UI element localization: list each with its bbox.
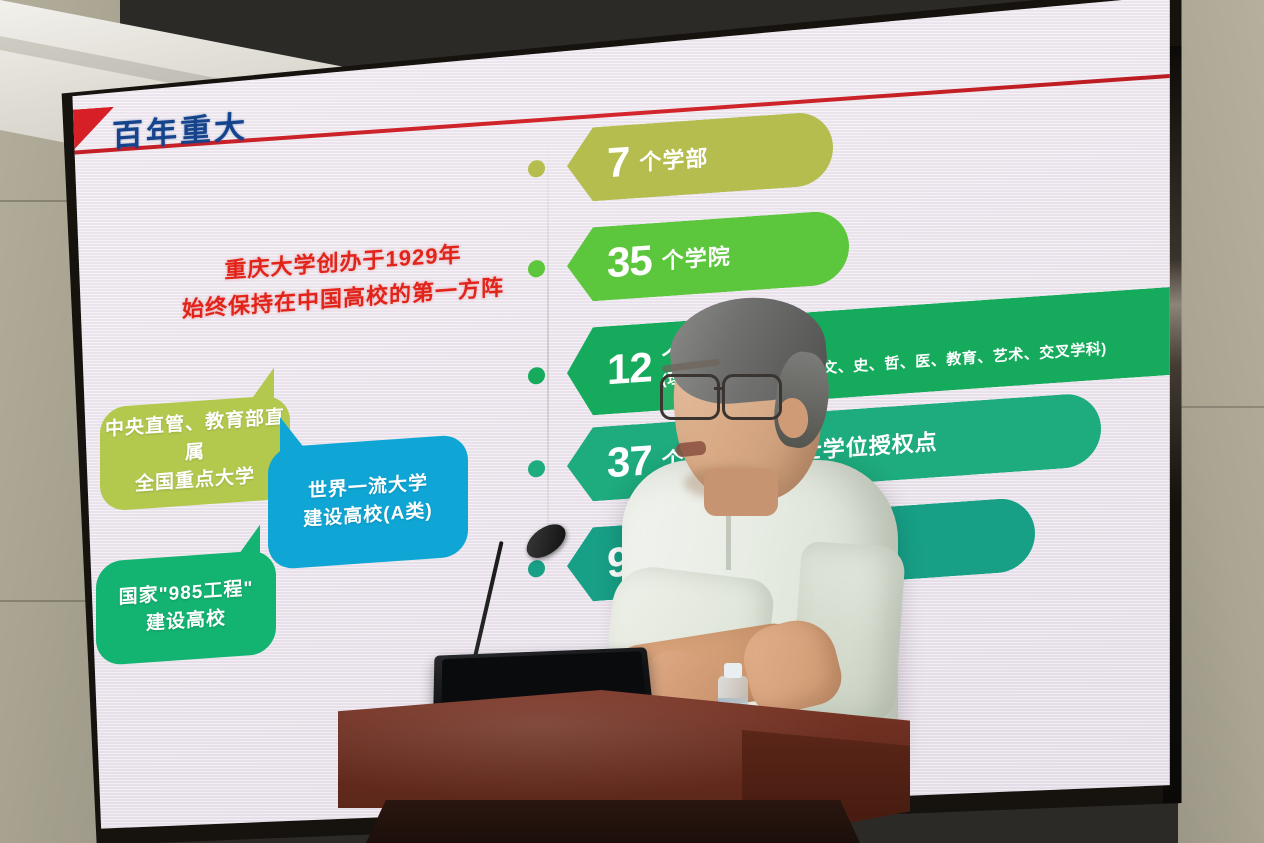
stat-bullet-dot (528, 559, 545, 577)
stat-bullet-dot (528, 259, 545, 277)
screenshot-root: 百年重大 1929 重庆大学 CHONGQING UNIVERSITY (0, 0, 1264, 843)
wall-right-panel (1178, 0, 1264, 843)
bubble-line-1: 中央直管、教育部直属 (100, 404, 290, 474)
bubble-tail (230, 525, 260, 567)
bubble-central-ministry: 中央直管、教育部直属 全国重点大学 (100, 394, 290, 511)
slide-headline: 重庆大学创办于1929年 始终保持在中国高校的第一方阵 (178, 233, 508, 327)
stat-bullet-dot (528, 159, 545, 177)
stat-row-2: 35 个学院 (528, 209, 849, 305)
bubble-world-class: 世界一流大学 建设高校(A类) (268, 434, 468, 570)
stat-number: 35 (607, 239, 652, 284)
bubble-985: 国家"985工程" 建设高校 (96, 549, 276, 666)
stat-label: 个学部 (639, 140, 708, 177)
stat-pill-1: 7 个学部 (567, 111, 833, 204)
presenter-glasses (660, 374, 796, 416)
stat-pill-2: 35 个学院 (567, 209, 849, 303)
stat-number: 7 (607, 141, 629, 185)
slide-title: 百年重大 (112, 101, 248, 156)
bubble-line-2: 建设高校 (146, 605, 226, 639)
stat-label: 个学院 (662, 239, 731, 276)
stat-row-1: 7 个学部 (528, 111, 833, 206)
podium-base (366, 800, 860, 843)
podium (338, 690, 910, 843)
stat-bullet-dot (528, 366, 545, 384)
bubble-tail (244, 368, 274, 410)
stat-bullet-dot (528, 459, 545, 477)
presenter-neck (704, 468, 778, 516)
